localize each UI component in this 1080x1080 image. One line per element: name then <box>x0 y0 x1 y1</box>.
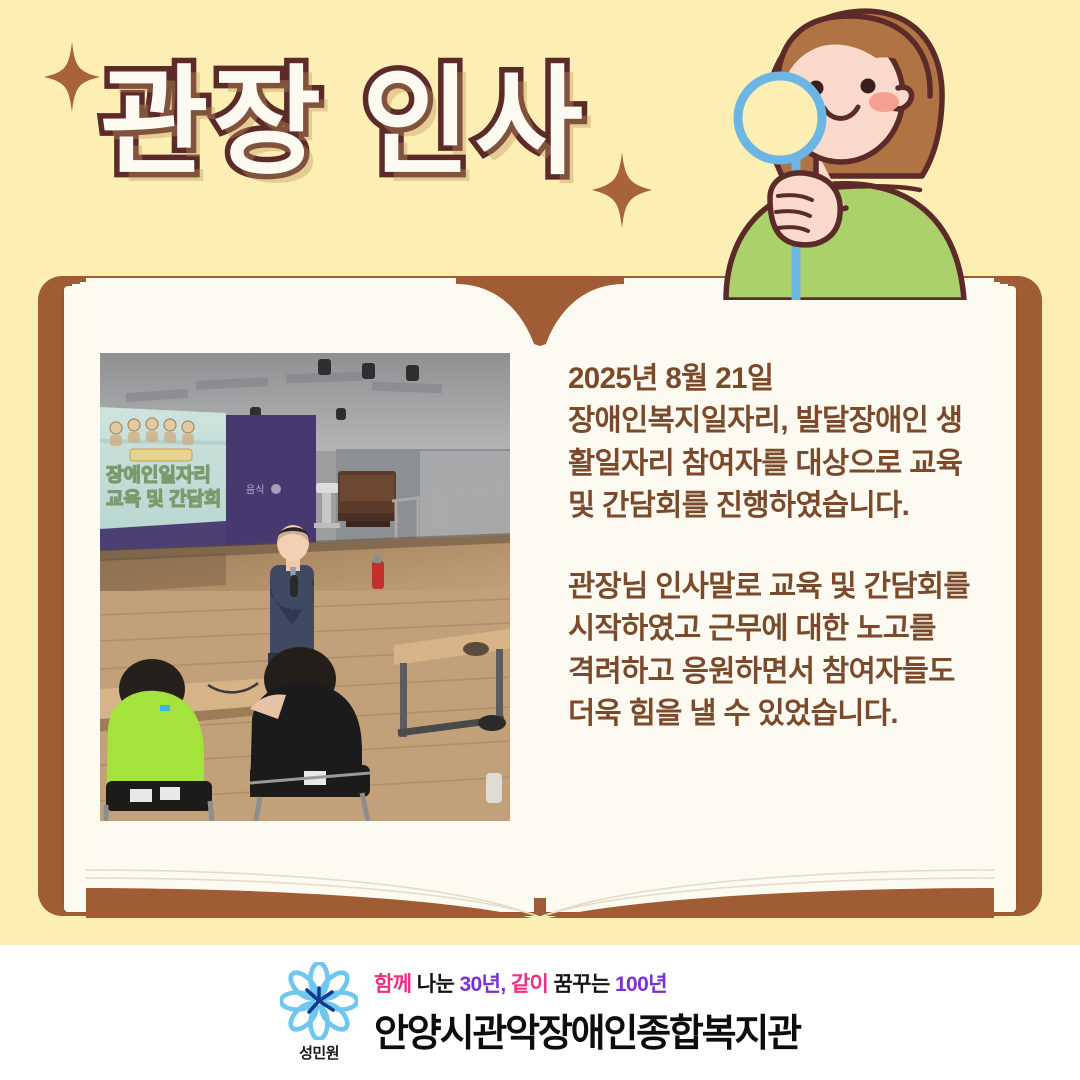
organization-name: 안양시관악장애인종합복지관 <box>374 1002 800 1057</box>
tagline-word-4: 꿈꾸는 <box>554 973 610 996</box>
svg-text:음식: 음식 <box>246 484 264 496</box>
svg-text:교육 및 간담회: 교육 및 간담회 <box>106 488 221 510</box>
presentation-hall-photo: 음식 장애인일자리 <box>100 353 510 821</box>
tagline-word-3: 같이 <box>511 973 548 996</box>
body-paragraph-2: 관장님 인사말로 교육 및 간담회를 시작하였고 근무에 대한 노고를 격려하고… <box>568 566 1000 736</box>
paragraph-gap <box>568 528 1000 566</box>
page-title-text: 관장 인사 <box>100 62 587 186</box>
logo-subtitle: 성민원 <box>299 1042 339 1063</box>
footer-branding-bar: 성민원 함께 나눈 30년, 같이 꿈꾸는 100년 안양시관악장애인종합복지관 <box>0 945 1080 1080</box>
tagline-word-1: 나눈 <box>417 973 454 996</box>
woman-with-magnifying-glass-illustration <box>708 0 1080 300</box>
flower-logo-icon <box>280 962 358 1040</box>
sparkle-icon <box>44 42 100 112</box>
footer-tagline: 함께 나눈 30년, 같이 꿈꾸는 100년 <box>374 968 800 998</box>
footer-text-block: 함께 나눈 30년, 같이 꿈꾸는 100년 안양시관악장애인종합복지관 <box>374 968 800 1057</box>
tagline-word-2: 30년, <box>459 973 505 996</box>
sparkle-icon <box>592 152 652 228</box>
organization-logo: 성민원 <box>280 962 358 1063</box>
book-gutter-bottom <box>86 826 994 918</box>
page-title: 관장 인사 <box>100 62 587 186</box>
tagline-word-0: 함께 <box>374 973 411 996</box>
book-gutter-top <box>456 278 624 346</box>
body-paragraph-1: 2025년 8월 21일 장애인복지일자리, 발달장애인 생 활일자리 참여자를… <box>568 358 1000 528</box>
card-root: 음식 장애인일자리 <box>0 0 1080 1080</box>
svg-text:장애인일자리: 장애인일자리 <box>106 464 211 486</box>
body-copy: 2025년 8월 21일 장애인복지일자리, 발달장애인 생 활일자리 참여자를… <box>568 358 1000 736</box>
tagline-word-5: 100년 <box>615 973 667 996</box>
